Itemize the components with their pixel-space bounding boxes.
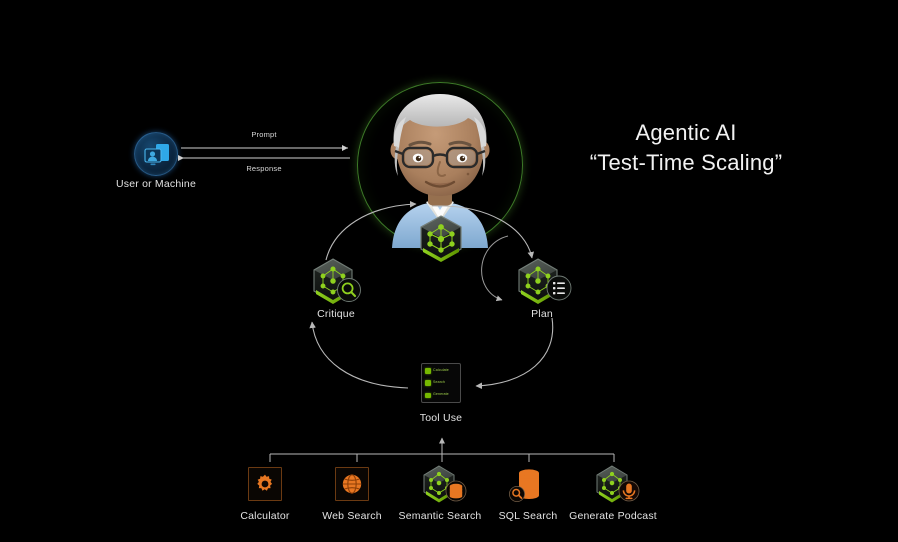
tool-semantic-search-label: Semantic Search <box>388 510 492 522</box>
plan-label: Plan <box>492 308 592 320</box>
tool-use-item: Generate <box>425 393 457 399</box>
tool-use-item: Calculate <box>425 368 457 374</box>
tool-generate-podcast[interactable] <box>593 464 641 506</box>
tool-use-item: Search <box>425 380 457 386</box>
globe-icon <box>340 472 364 496</box>
checkbox-icon <box>425 368 431 374</box>
tool-calculator[interactable] <box>248 467 282 501</box>
list-icon <box>547 276 571 300</box>
tool-calculator-label: Calculator <box>215 510 315 522</box>
plan-node[interactable] <box>514 256 574 308</box>
tool-web-search-label: Web Search <box>302 510 402 522</box>
tool-use-label: Tool Use <box>391 412 491 424</box>
tool-sql-search[interactable] <box>508 464 548 506</box>
database-icon <box>508 464 548 506</box>
tool-use-item-label: Generate <box>433 393 449 397</box>
tool-semantic-search[interactable] <box>420 464 468 506</box>
tool-use-item-label: Search <box>433 381 445 385</box>
tool-web-search[interactable] <box>335 467 369 501</box>
gear-icon <box>253 472 277 496</box>
cube-microphone-icon <box>593 464 641 506</box>
critique-label: Critique <box>286 308 386 320</box>
checkbox-icon <box>425 393 431 399</box>
critique-node[interactable] <box>309 256 363 308</box>
prompt-label: Prompt <box>218 130 310 139</box>
tool-tree-connector <box>246 428 646 468</box>
tool-use-node[interactable]: Calculate Search Generate <box>421 363 461 403</box>
tool-generate-podcast-label: Generate Podcast <box>562 510 664 522</box>
tool-use-item-label: Calculate <box>433 369 449 373</box>
cube-database-icon <box>420 464 468 506</box>
user-monitor-icon <box>134 132 178 176</box>
page-title: Agentic AI “Test-Time Scaling” <box>526 118 846 178</box>
agentic-ai-diagram: Agentic AI “Test-Time Scaling” User or M… <box>0 0 898 542</box>
user-label: User or Machine <box>84 178 228 190</box>
title-line-1: Agentic AI <box>526 118 846 148</box>
checkbox-icon <box>425 380 431 386</box>
magnifier-icon <box>338 279 361 302</box>
response-label: Response <box>218 164 310 173</box>
title-line-2: “Test-Time Scaling” <box>526 148 846 178</box>
